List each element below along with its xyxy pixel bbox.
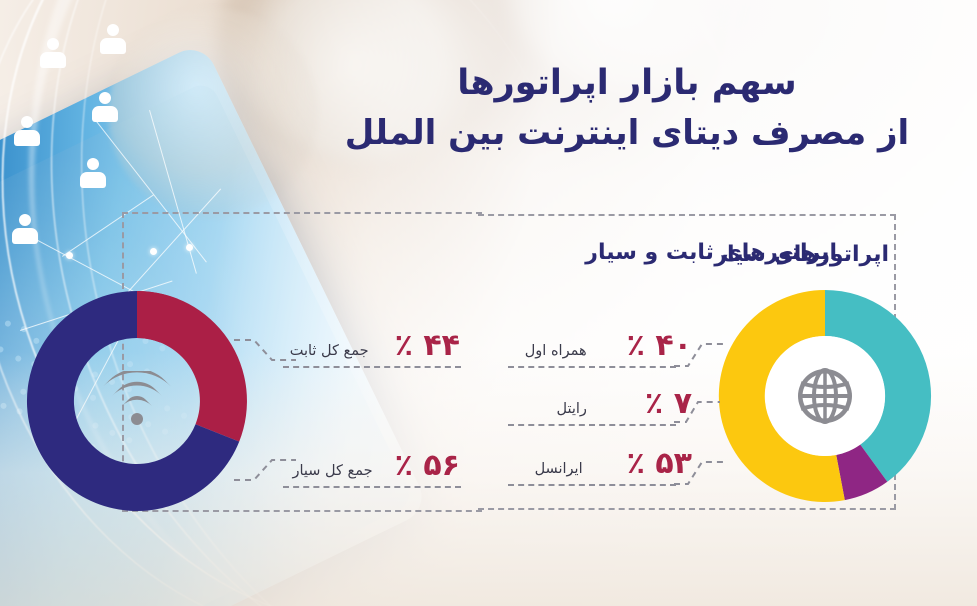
donut-chart-fixed-mobile	[18, 282, 256, 520]
label-rightel: رایتل	[556, 401, 586, 417]
donut-chart-mobile-operators	[711, 282, 939, 510]
value-mobile-total: ۵۶ ٪	[395, 448, 460, 483]
underline-hamrah-aval	[508, 366, 676, 368]
title-line-1: سهم بازار اپراتورها	[317, 58, 937, 109]
globe-icon	[790, 361, 860, 431]
value-irancell: ۵۳ ٪	[627, 446, 692, 481]
row-fixed-total: ۴۴ ٪ جمع کل ثابت	[290, 328, 460, 363]
panel-right-heading: اپراتورهای سیار	[714, 242, 889, 267]
label-mobile-total: جمع کل سیار	[292, 463, 372, 479]
wifi-icon	[100, 371, 174, 431]
underline-rightel	[508, 424, 676, 426]
value-rightel: ۷ ٪	[645, 386, 692, 421]
infographic-poster: سهم بازار اپراتورها از مصرف دیتای اینترن…	[0, 0, 977, 606]
label-hamrah-aval: همراه اول	[525, 343, 587, 359]
donut-right-center	[765, 336, 885, 456]
value-fixed-total: ۴۴ ٪	[395, 328, 460, 363]
row-mobile-total: ۵۶ ٪ جمع کل سیار	[290, 448, 460, 483]
poster-title: سهم بازار اپراتورها از مصرف دیتای اینترن…	[317, 58, 937, 158]
row-rightel: ۷ ٪ رایتل	[512, 386, 692, 421]
title-line-2: از مصرف دیتای اینترنت بین الملل	[317, 109, 937, 158]
label-irancell: ایرانسل	[535, 461, 583, 477]
underline-mobile-total	[283, 486, 461, 488]
underline-irancell	[508, 484, 676, 486]
underline-fixed-total	[283, 366, 461, 368]
label-fixed-total: جمع کل ثابت	[290, 343, 369, 359]
value-hamrah-aval: ۴۰ ٪	[627, 328, 692, 363]
donut-left-center	[74, 338, 200, 464]
row-irancell: ۵۳ ٪ ایرانسل	[512, 446, 692, 481]
row-hamrah-aval: ۴۰ ٪ همراه اول	[512, 328, 692, 363]
